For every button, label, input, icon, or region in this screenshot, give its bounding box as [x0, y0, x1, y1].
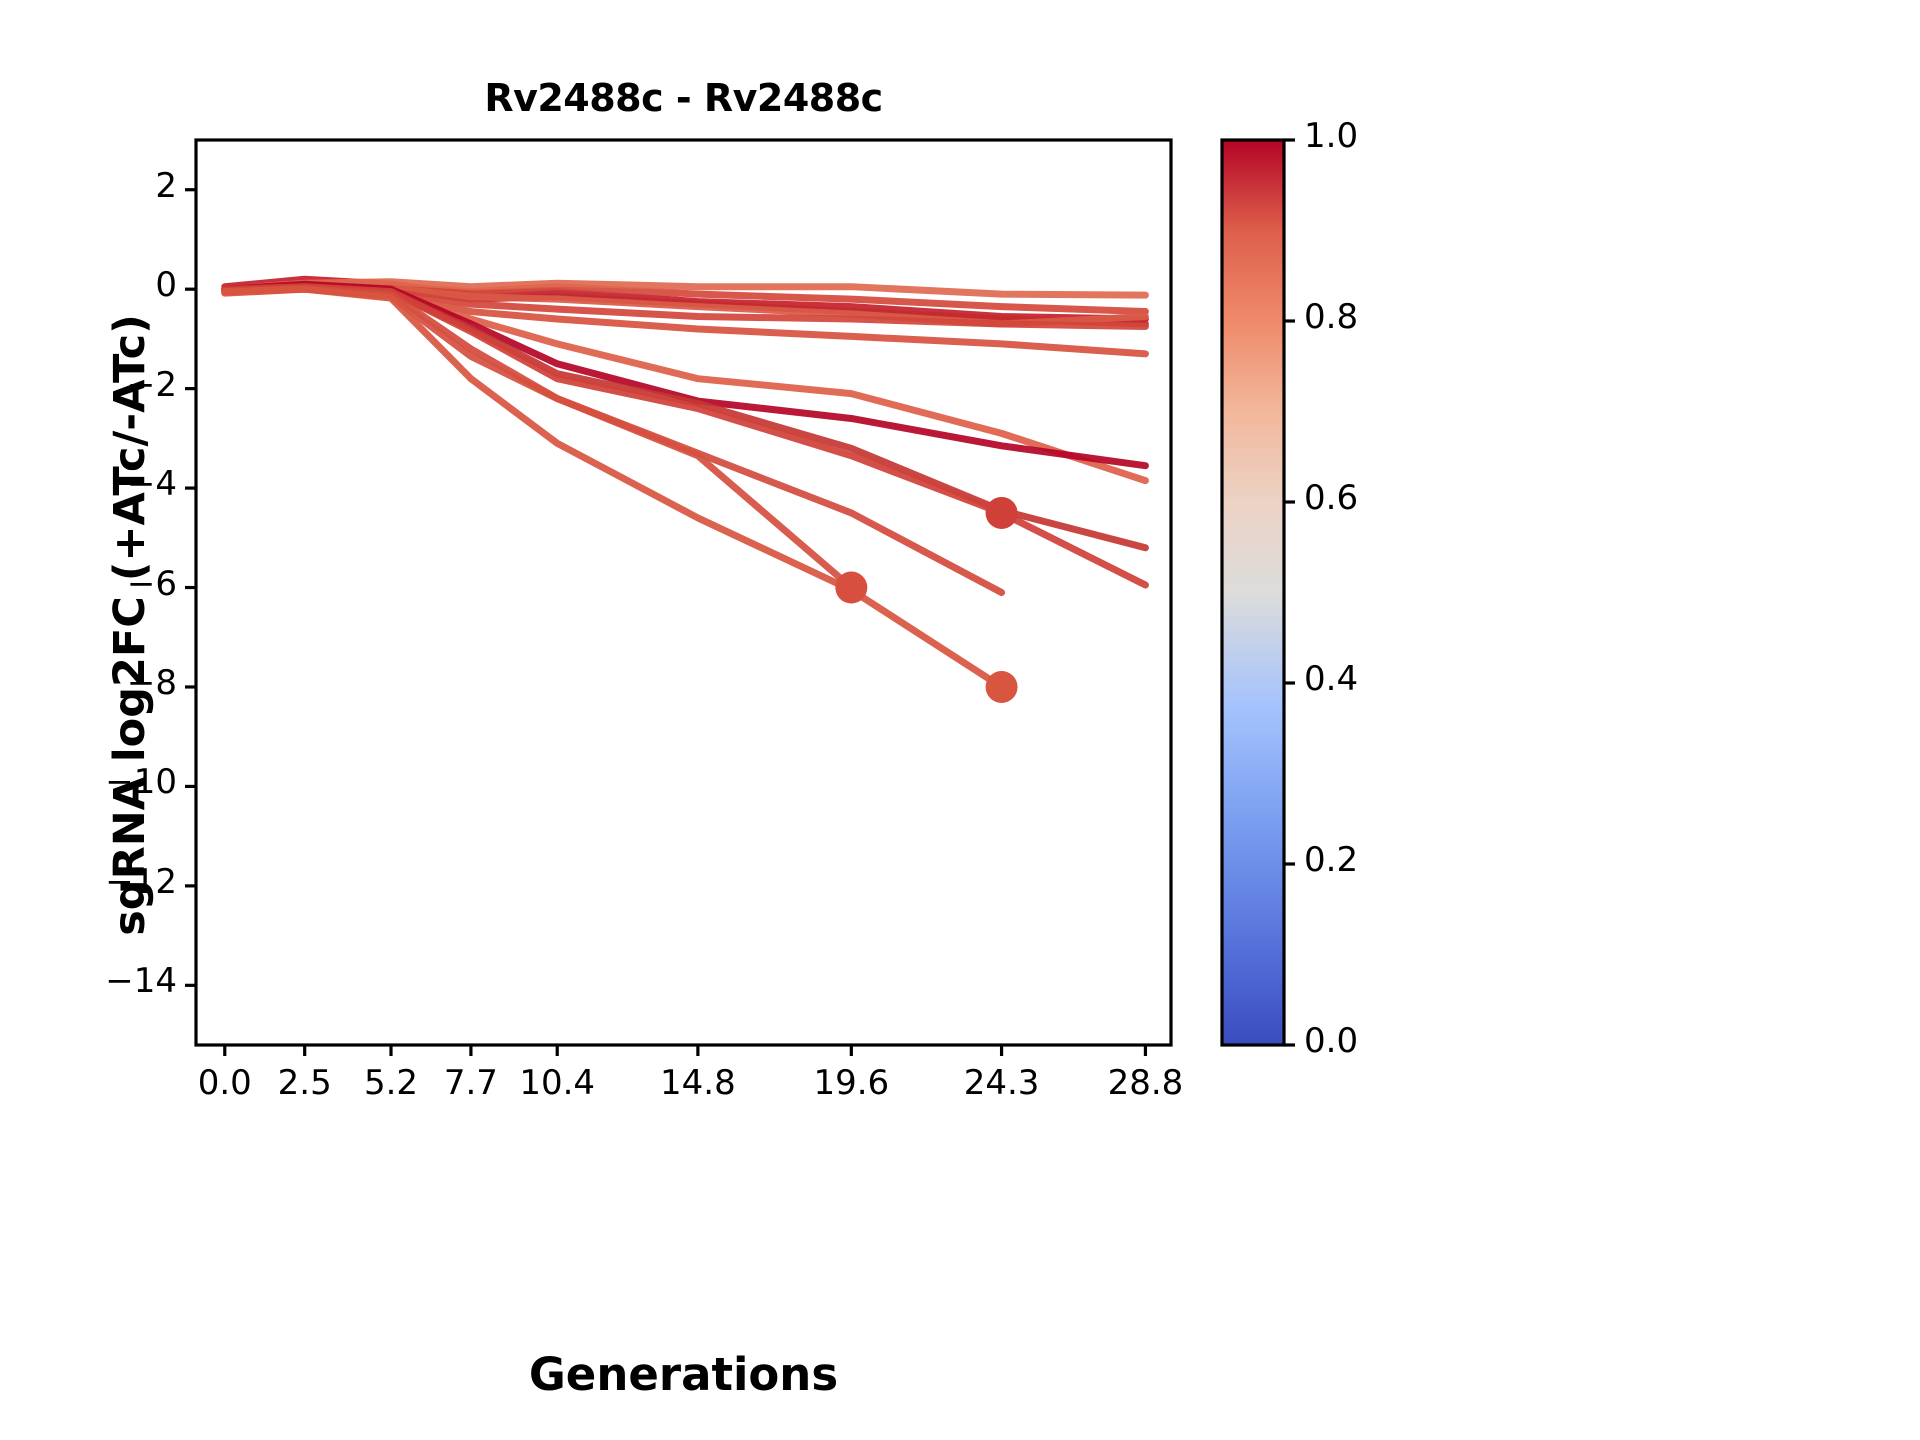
plot-canvas — [0, 0, 1920, 1440]
chart-figure: Rv2488c - Rv2488c sgRNA log2FC (+ATc/-AT… — [0, 0, 1920, 1440]
data-end-marker — [835, 572, 867, 604]
y-tick-label: 2 — [57, 166, 177, 206]
colorbar-tick-label: 0.8 — [1304, 297, 1424, 337]
x-tick-label: 24.3 — [942, 1063, 1062, 1103]
colorbar-gradient — [1222, 140, 1284, 1045]
y-tick-label: 0 — [57, 265, 177, 305]
y-tick-label: −4 — [57, 464, 177, 504]
y-tick-label: −10 — [57, 762, 177, 802]
y-tick-label: −8 — [57, 663, 177, 703]
x-tick-label: 28.8 — [1085, 1063, 1205, 1103]
x-tick-label: 10.4 — [497, 1063, 617, 1103]
colorbar-ticks-group — [1284, 140, 1295, 1045]
data-end-marker — [986, 497, 1018, 529]
colorbar-tick-label: 0.0 — [1304, 1021, 1424, 1061]
y-tick-label: −12 — [57, 862, 177, 902]
colorbar-tick-label: 0.4 — [1304, 659, 1424, 699]
x-tick-label: 19.6 — [791, 1063, 911, 1103]
colorbar-tick-label: 1.0 — [1304, 116, 1424, 156]
x-tick-label: 14.8 — [638, 1063, 758, 1103]
y-tick-label: −6 — [57, 564, 177, 604]
y-tick-label: −14 — [57, 961, 177, 1001]
data-end-marker — [986, 671, 1018, 703]
plot-area-background — [196, 140, 1171, 1045]
colorbar-tick-label: 0.6 — [1304, 478, 1424, 518]
y-tick-label: −2 — [57, 365, 177, 405]
colorbar-tick-label: 0.2 — [1304, 840, 1424, 880]
